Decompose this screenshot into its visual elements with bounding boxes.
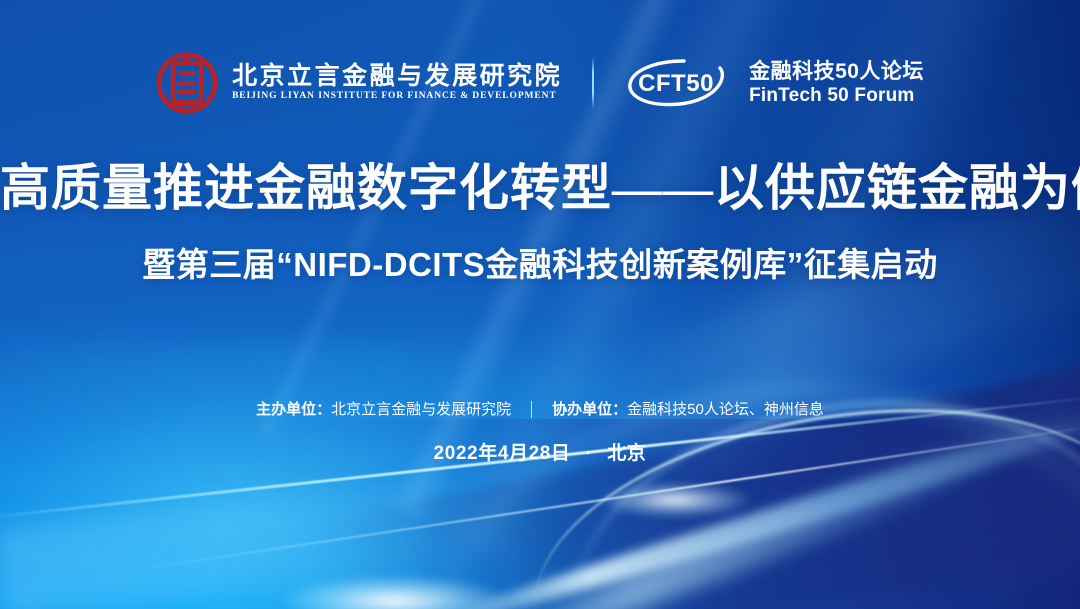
event-poster: 北京立言金融与发展研究院 BEIJING LIYAN INSTITUTE FOR… — [0, 0, 1080, 609]
event-location: 北京 — [607, 443, 646, 464]
cohost-value: 金融科技50人论坛、神州信息 — [627, 402, 824, 417]
forum-logo: CFT50 金融科技50人论坛 FinTech 50 Forum — [624, 56, 924, 110]
host-value: 北京立言金融与发展研究院 — [331, 402, 511, 417]
institute-logo: 北京立言金融与发展研究院 BEIJING LIYAN INSTITUTE FOR… — [156, 52, 562, 114]
red-seal-icon — [156, 52, 218, 114]
page-subtitle: 暨第三届“NIFD-DCITS金融科技创新案例库”征集启动 — [0, 248, 1080, 281]
forum-name-en: FinTech 50 Forum — [749, 85, 924, 106]
logo-row: 北京立言金融与发展研究院 BEIJING LIYAN INSTITUTE FOR… — [0, 52, 1080, 114]
poster-content: 北京立言金融与发展研究院 BEIJING LIYAN INSTITUTE FOR… — [0, 0, 1080, 609]
cohost-label: 协办单位： — [552, 402, 627, 417]
date-separator: · — [585, 443, 592, 464]
page-title: 高质量推进金融数字化转型——以供应链金融为例 — [0, 163, 1080, 213]
host-label: 主办单位： — [256, 402, 331, 417]
institute-name-cn: 北京立言金融与发展研究院 — [232, 64, 562, 89]
forum-name-cn: 金融科技50人论坛 — [749, 60, 924, 84]
event-date-location: 2022年4月28日 · 北京 — [0, 444, 1080, 463]
institute-name-block: 北京立言金融与发展研究院 BEIJING LIYAN INSTITUTE FOR… — [232, 64, 562, 102]
institute-name-en: BEIJING LIYAN INSTITUTE FOR FINANCE & DE… — [232, 92, 562, 102]
forum-name-block: 金融科技50人论坛 FinTech 50 Forum — [749, 60, 924, 107]
svg-text:CFT50: CFT50 — [638, 70, 714, 97]
vertical-divider-icon — [531, 401, 532, 418]
cft50-ellipse-logo-icon: CFT50 — [624, 56, 732, 110]
organizer-row: 主办单位： 北京立言金融与发展研究院 协办单位： 金融科技50人论坛、神州信息 — [0, 401, 1080, 418]
event-date: 2022年4月28日 — [434, 443, 571, 464]
vertical-divider-icon — [592, 57, 594, 109]
